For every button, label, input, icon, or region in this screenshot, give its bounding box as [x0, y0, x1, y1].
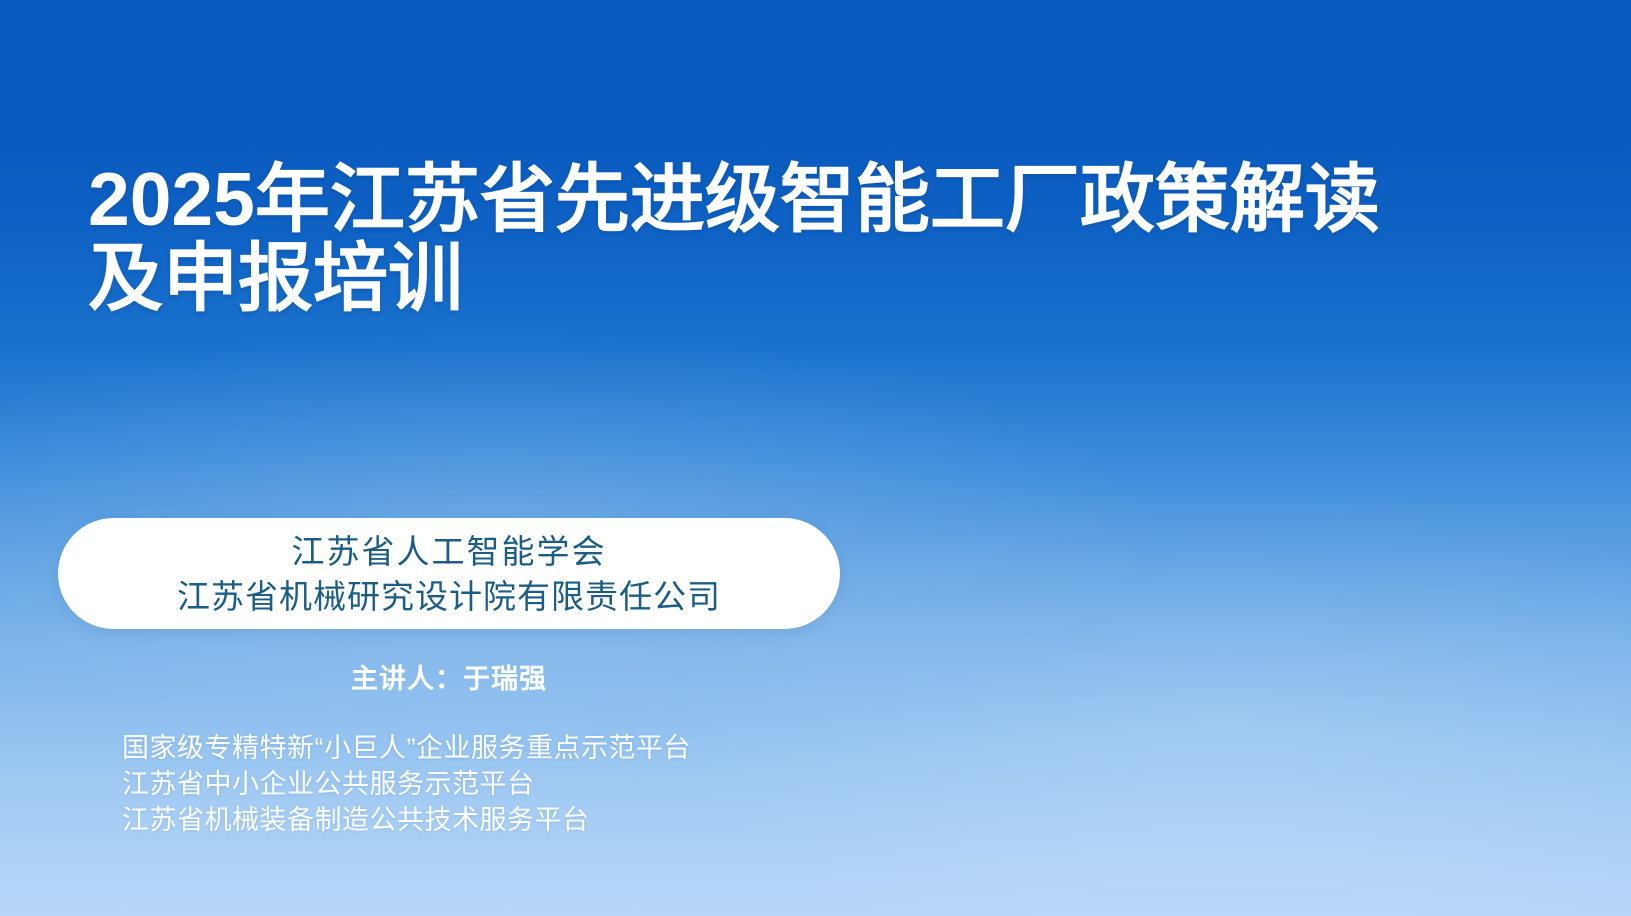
platform-credential-item: 江苏省机械装备制造公共技术服务平台 — [122, 802, 1122, 838]
organizer-name-primary: 江苏省人工智能学会 — [292, 529, 607, 574]
organizer-pill: 江苏省人工智能学会 江苏省机械研究设计院有限责任公司 — [58, 518, 840, 629]
slide-title-line-2: 及申报培训 — [88, 239, 1508, 318]
platform-credential-item: 国家级专精特新“小巨人”企业服务重点示范平台 — [122, 730, 1122, 766]
slide-title-line-1: 2025年江苏省先进级智能工厂政策解读 — [88, 160, 1508, 239]
platform-credentials-list: 国家级专精特新“小巨人”企业服务重点示范平台 江苏省中小企业公共服务示范平台 江… — [122, 730, 1122, 838]
platform-credential-item: 江苏省中小企业公共服务示范平台 — [122, 766, 1122, 802]
presentation-slide: 2025年江苏省先进级智能工厂政策解读 及申报培训 江苏省人工智能学会 江苏省机… — [0, 0, 1631, 916]
organizer-name-secondary: 江苏省机械研究设计院有限责任公司 — [177, 574, 721, 619]
presenter-label: 主讲人：于瑞强 — [58, 660, 840, 698]
slide-title: 2025年江苏省先进级智能工厂政策解读 及申报培训 — [88, 160, 1508, 318]
